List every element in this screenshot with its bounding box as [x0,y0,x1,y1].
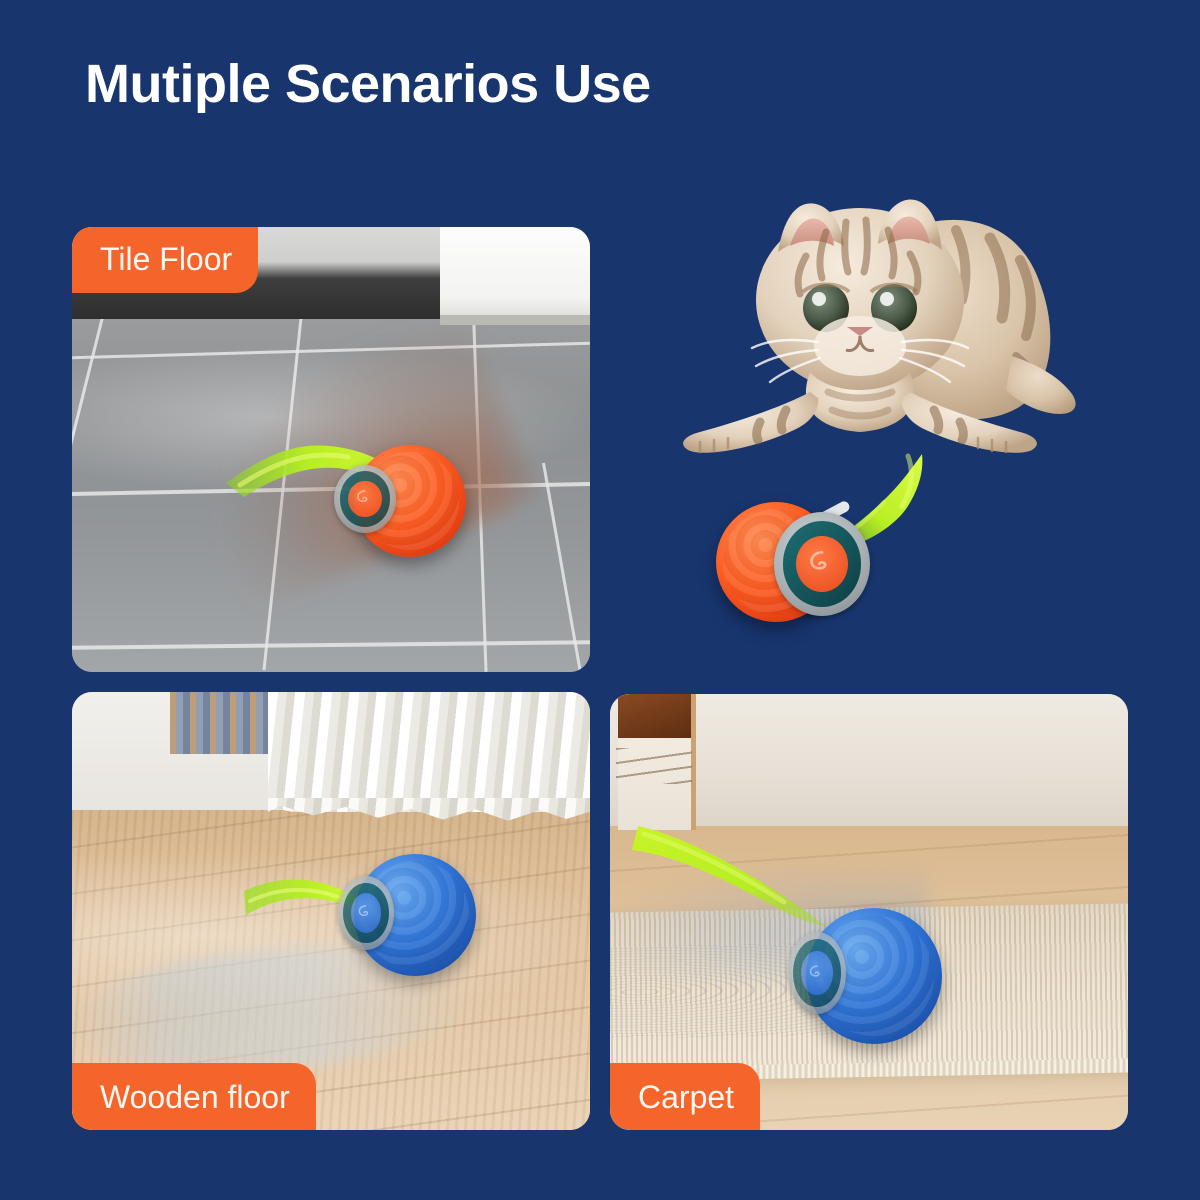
page-title: Mutiple Scenarios Use [85,56,651,113]
wall-art [618,694,696,830]
swirl-logo-icon [804,544,840,583]
curtain [268,692,590,812]
badge-carpet[interactable]: Carpet [610,1063,760,1130]
badge-wooden-floor[interactable]: Wooden floor [72,1063,316,1130]
swirl-logo-icon [806,958,828,989]
swirl-logo-icon [353,486,376,512]
panel-carpet[interactable]: Carpet [610,694,1128,1130]
cabinet [440,227,590,325]
wheel-hub [801,951,832,995]
ball-wheel [788,932,846,1014]
feather-wand-icon [630,816,850,934]
swirl-logo-icon [355,899,376,927]
ball-wheel [334,465,396,533]
wheel-hub [351,893,381,933]
hero-illustration [660,160,1120,660]
panel-tile-floor[interactable]: Tile Floor [72,227,590,672]
panel-wooden-floor[interactable]: Wooden floor [72,692,590,1130]
wheel-hub [348,481,381,518]
ball-wheel [338,876,394,950]
badge-tile-floor[interactable]: Tile Floor [72,227,258,293]
kitten-image [660,160,1100,480]
product-hero [710,450,950,640]
grout-line [72,640,590,649]
ball-wheel [774,512,870,616]
wheel-hub [796,536,848,592]
